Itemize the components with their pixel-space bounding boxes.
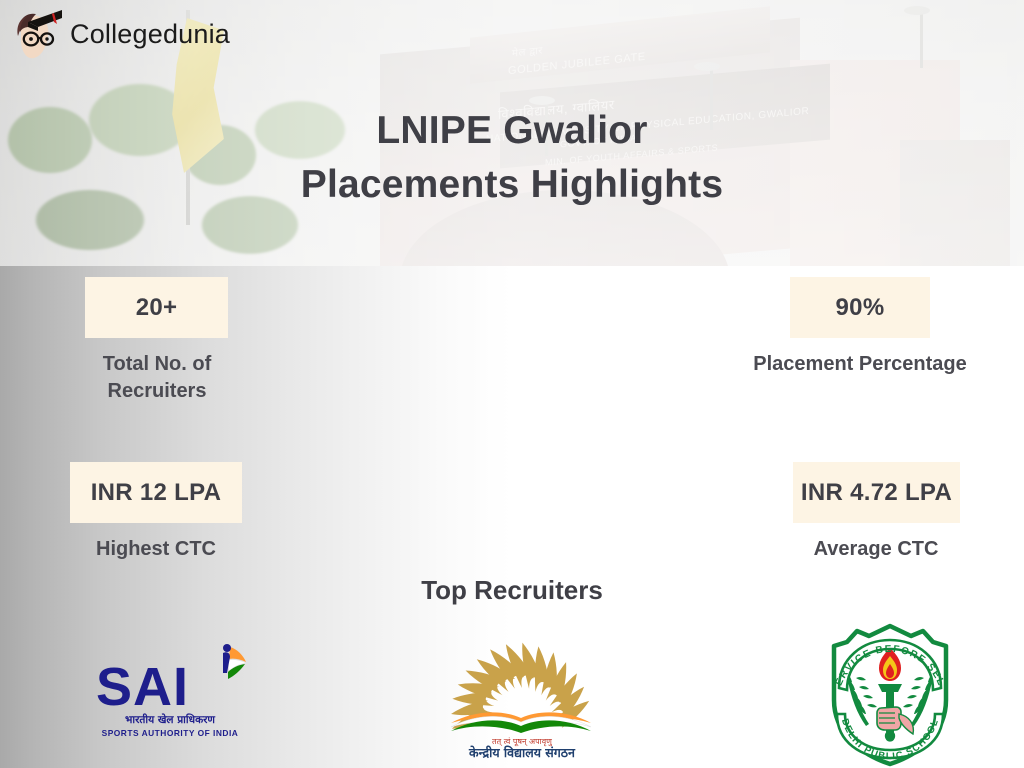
graduate-student-avatar-icon: [8, 6, 64, 62]
stat-value: 20+: [85, 277, 228, 338]
collegedunia-logo[interactable]: Collegedunia: [8, 6, 230, 62]
stat-label: Placement Percentage: [710, 351, 1010, 378]
svg-text:SAI: SAI: [96, 657, 189, 717]
title-line-2: Placements Highlights: [0, 158, 1024, 212]
recruiter-logo-sai[interactable]: SAI भारतीय खेल प्राधिकरण SPORTS AUTHORIT…: [80, 620, 260, 768]
stat-label: Highest CTC: [56, 536, 256, 563]
delhi-public-school-crest-logo: SERVICE BEFORE SELF DELHI PUBLIC SCHOOL: [815, 622, 965, 767]
infographic-canvas: मेल द्वार GOLDEN JUBILEE GATE विश्वविद्य…: [0, 0, 1024, 768]
kendriya-vidyalaya-sangathan-logo: तत् त्वं पूषन् अपावृणु केन्द्रीय विद्याल…: [437, 628, 607, 760]
stat-placement-percentage: 90% Placement Percentage: [790, 277, 930, 378]
recruiter-logo-row: SAI भारतीय खेल प्राधिकरण SPORTS AUTHORIT…: [0, 620, 1024, 768]
title-line-1: LNIPE Gwalior: [0, 104, 1024, 158]
recruiter-logo-dps[interactable]: SERVICE BEFORE SELF DELHI PUBLIC SCHOOL: [800, 620, 980, 768]
top-recruiters-heading: Top Recruiters: [0, 575, 1024, 606]
sports-authority-of-india-logo: SAI भारतीय खेल प्राधिकरण SPORTS AUTHORIT…: [80, 639, 260, 749]
stat-label-line-2: Recruiters: [67, 378, 247, 405]
page-title: LNIPE Gwalior Placements Highlights: [0, 104, 1024, 212]
stat-value: INR 12 LPA: [70, 462, 242, 523]
stat-value: 90%: [790, 277, 930, 338]
recruiter-logo-kvs[interactable]: तत् त्वं पूषन् अपावृणु केन्द्रीय विद्याल…: [432, 620, 612, 768]
stat-average-ctc: INR 4.72 LPA Average CTC: [793, 462, 960, 563]
svg-text:SPORTS AUTHORITY OF INDIA: SPORTS AUTHORITY OF INDIA: [102, 728, 239, 738]
svg-text:भारतीय खेल प्राधिकरण: भारतीय खेल प्राधिकरण: [125, 713, 215, 726]
stat-label: Total No. of Recruiters: [67, 351, 247, 404]
stat-highest-ctc: INR 12 LPA Highest CTC: [70, 462, 242, 563]
stat-label-line-1: Total No. of: [67, 351, 247, 378]
stat-total-recruiters: 20+ Total No. of Recruiters: [85, 277, 228, 404]
brand-name: Collegedunia: [70, 19, 230, 50]
stat-label: Average CTC: [771, 536, 981, 563]
stat-value: INR 4.72 LPA: [793, 462, 960, 523]
svg-text:केन्द्रीय विद्यालय संगठन: केन्द्रीय विद्यालय संगठन: [468, 745, 576, 760]
